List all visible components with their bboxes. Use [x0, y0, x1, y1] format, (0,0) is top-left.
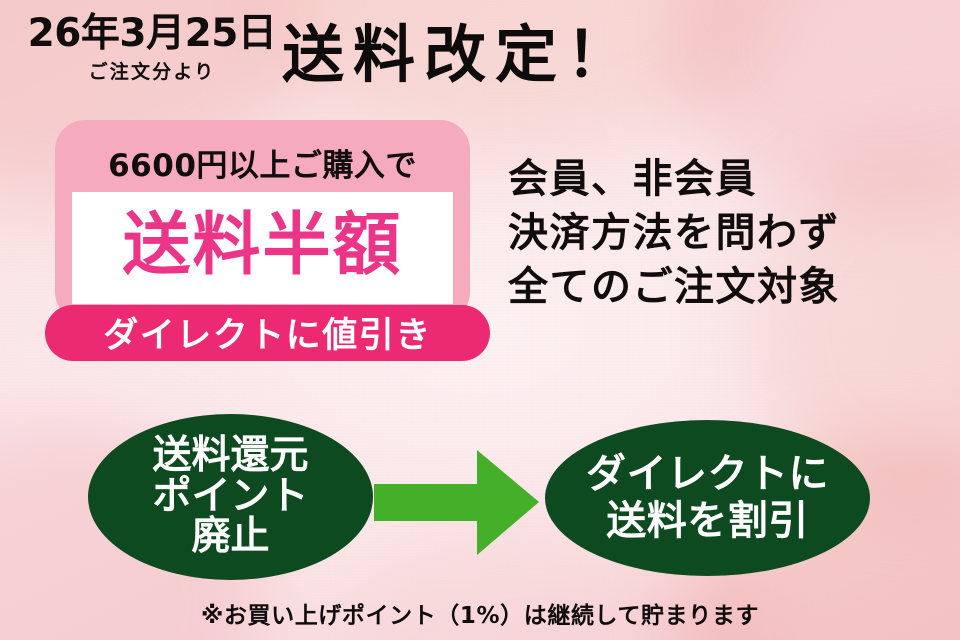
flow-from-line-2: ポイント — [152, 477, 308, 518]
flow-from-line-1: 送料還元 — [152, 436, 308, 477]
effective-date-note: ご注文分より — [18, 57, 286, 84]
flow-from-bubble: 送料還元 ポイント 廃止 — [88, 414, 373, 580]
eligibility-line-1: 会員、非会員 — [508, 152, 958, 206]
offer-condition-label: 6600円以上ご購入で — [55, 140, 470, 185]
flow-to-bubble: ダイレクトに 送料を割引 — [545, 420, 870, 576]
flow-to-line-2: 送料を割引 — [606, 498, 809, 545]
footnote-text: ※お買い上げポイント（1%）は継続して貯まります — [0, 596, 960, 630]
flow-from-line-3: 廃止 — [191, 517, 269, 558]
offer-pill-label: ダイレクトに値引き — [103, 307, 432, 358]
effective-date-block: 26年3月25日 ご注文分より — [18, 14, 286, 84]
offer-card: 6600円以上ご購入で 送料半額 — [55, 120, 470, 322]
page-title: 送料改定！ — [282, 20, 802, 89]
offer-pill-badge: ダイレクトに値引き — [45, 305, 490, 361]
right-arrow-icon — [374, 450, 539, 555]
eligibility-description: 会員、非会員 決済方法を問わず 全てのご注文対象 — [508, 152, 958, 314]
offer-highlight-label: 送料半額 — [122, 212, 402, 280]
eligibility-line-3: 全てのご注文対象 — [508, 260, 958, 314]
offer-highlight-band: 送料半額 — [72, 192, 453, 304]
shipping-revision-banner: 26年3月25日 ご注文分より 送料改定！ 6600円以上ご購入で 送料半額 ダ… — [0, 0, 960, 640]
flow-to-line-1: ダイレクトに — [586, 451, 829, 498]
effective-date: 26年3月25日 — [18, 14, 286, 54]
eligibility-line-2: 決済方法を問わず — [508, 206, 958, 260]
